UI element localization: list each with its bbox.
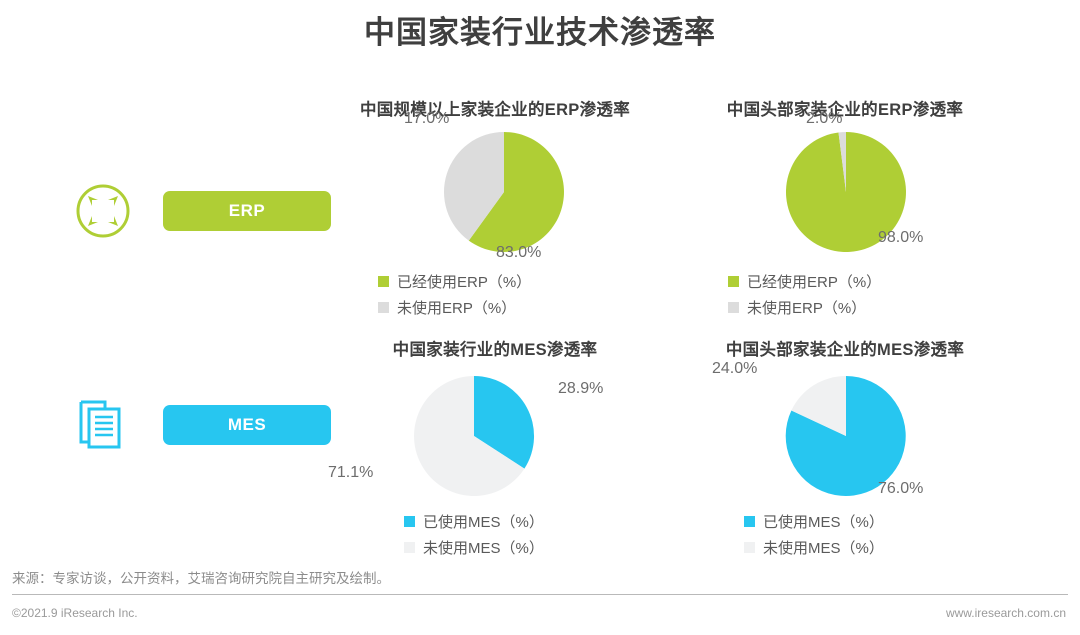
- chart-erp-scale-enterprises: 中国规模以上家装企业的ERP渗透率 17.0% 83.0% 已经使用ERP（%）…: [330, 96, 660, 320]
- pie-slice-label-used: 28.9%: [558, 380, 603, 398]
- chart-mes-industry: 中国家装行业的MES渗透率 28.9% 71.1% 已使用MES（%） 未使用M…: [330, 336, 660, 560]
- legend-swatch-unused: [404, 542, 415, 553]
- legend-swatch-used: [404, 516, 415, 527]
- page-title: 中国家装行业技术渗透率: [0, 8, 1080, 58]
- legend-item: 已经使用ERP（%）: [728, 268, 1010, 294]
- expand-arrows-icon: [75, 183, 131, 239]
- chart-mes-top-enterprises: 中国头部家装企业的MES渗透率 24.0% 76.0% 已使用MES（%） 未使…: [680, 336, 1010, 560]
- category-label-erp: ERP: [75, 176, 360, 246]
- category-label-mes: MES: [75, 390, 360, 460]
- legend-label: 未使用ERP（%）: [747, 297, 866, 318]
- legend-swatch-unused: [378, 302, 389, 313]
- chart-title: 中国头部家装企业的MES渗透率: [680, 336, 1010, 360]
- legend-item: 未使用ERP（%）: [378, 294, 660, 320]
- legend: 已使用MES（%） 未使用MES（%）: [330, 508, 660, 560]
- legend-label: 已经使用ERP（%）: [747, 271, 881, 292]
- legend-swatch-unused: [744, 542, 755, 553]
- pie-chart: 24.0% 76.0%: [680, 366, 1010, 498]
- pie-slice-label-unused: 17.0%: [404, 110, 449, 128]
- chart-title: 中国规模以上家装企业的ERP渗透率: [330, 96, 660, 120]
- legend-item: 已使用MES（%）: [404, 508, 660, 534]
- legend: 已使用MES（%） 未使用MES（%）: [680, 508, 1010, 560]
- legend-item: 已经使用ERP（%）: [378, 268, 660, 294]
- source-note: 来源：专家访谈，公开资料，艾瑞咨询研究院自主研究及绘制。: [12, 567, 390, 587]
- legend-label: 未使用MES（%）: [423, 537, 544, 558]
- category-pill-mes[interactable]: MES: [163, 405, 331, 445]
- pie-chart: 2.0% 98.0%: [680, 126, 1010, 258]
- legend-label: 已经使用ERP（%）: [397, 271, 531, 292]
- legend: 已经使用ERP（%） 未使用ERP（%）: [680, 268, 1010, 320]
- pie-chart: 28.9% 71.1%: [330, 366, 660, 498]
- website-url: www.iresearch.com.cn: [946, 606, 1066, 620]
- legend-label: 已使用MES（%）: [763, 511, 884, 532]
- legend-label: 未使用MES（%）: [763, 537, 884, 558]
- chart-title: 中国家装行业的MES渗透率: [330, 336, 660, 360]
- legend-item: 未使用ERP（%）: [728, 294, 1010, 320]
- legend-item: 未使用MES（%）: [404, 534, 660, 560]
- legend-label: 未使用ERP（%）: [397, 297, 516, 318]
- legend-swatch-unused: [728, 302, 739, 313]
- footer-divider: [12, 594, 1068, 595]
- legend-swatch-used: [744, 516, 755, 527]
- pie-chart: 17.0% 83.0%: [330, 126, 660, 258]
- legend-swatch-used: [728, 276, 739, 287]
- legend-label: 已使用MES（%）: [423, 511, 544, 532]
- pie-slice-label-used: 76.0%: [878, 480, 923, 498]
- legend-swatch-used: [378, 276, 389, 287]
- legend: 已经使用ERP（%） 未使用ERP（%）: [330, 268, 660, 320]
- documents-stack-icon: [75, 397, 131, 453]
- legend-item: 未使用MES（%）: [744, 534, 1010, 560]
- chart-title: 中国头部家装企业的ERP渗透率: [680, 96, 1010, 120]
- legend-item: 已使用MES（%）: [744, 508, 1010, 534]
- pie-slice-label-unused: 24.0%: [712, 360, 757, 378]
- pie-slice-label-used: 83.0%: [496, 244, 541, 262]
- category-pill-erp[interactable]: ERP: [163, 191, 331, 231]
- copyright-text: ©2021.9 iResearch Inc.: [12, 606, 138, 620]
- chart-erp-top-enterprises: 中国头部家装企业的ERP渗透率 2.0% 98.0% 已经使用ERP（%） 未使…: [680, 96, 1010, 320]
- pie-slice-label-unused: 71.1%: [328, 464, 373, 482]
- pie-slice-label-used: 98.0%: [878, 229, 923, 247]
- pie-slice-label-unused: 2.0%: [806, 110, 842, 128]
